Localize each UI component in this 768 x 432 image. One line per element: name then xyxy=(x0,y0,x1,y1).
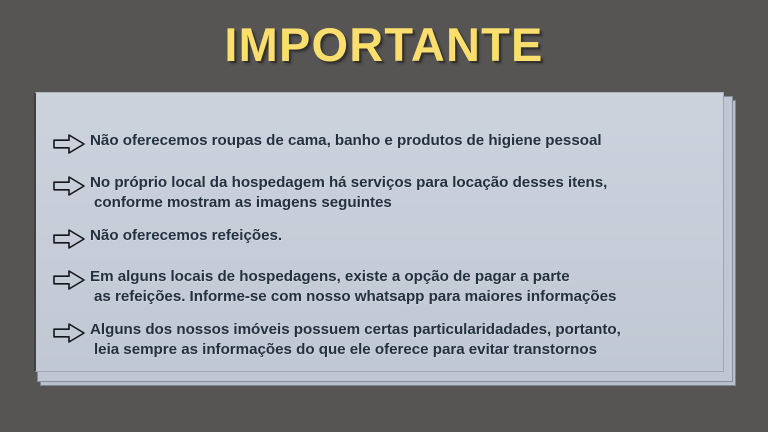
block-arrow-right-icon xyxy=(52,132,86,156)
list-item-text: Alguns dos nossos imóveis possuem certas… xyxy=(90,320,621,360)
slide-canvas: IMPORTANTE Não oferecemos roupas de cama… xyxy=(0,0,768,432)
list-item-line1: Alguns dos nossos imóveis possuem certas… xyxy=(90,321,621,338)
list-item-text: No próprio local da hospedagem há serviç… xyxy=(90,173,607,213)
bullet-list: Não oferecemos roupas de cama, banho e p… xyxy=(52,131,713,360)
content-panel: Não oferecemos roupas de cama, banho e p… xyxy=(34,92,724,372)
list-item: No próprio local da hospedagem há serviç… xyxy=(52,173,713,213)
block-arrow-right-icon xyxy=(52,321,86,345)
block-arrow-right-icon xyxy=(52,174,86,198)
list-item-text: Não oferecemos refeições. xyxy=(90,226,282,246)
list-item-line2: as refeições. Informe-se com nosso whats… xyxy=(94,287,616,307)
list-item-line1: No próprio local da hospedagem há serviç… xyxy=(90,174,607,191)
list-item: Não oferecemos roupas de cama, banho e p… xyxy=(52,131,713,156)
list-item-text: Não oferecemos roupas de cama, banho e p… xyxy=(90,131,602,151)
list-item: Alguns dos nossos imóveis possuem certas… xyxy=(52,320,713,360)
block-arrow-right-icon xyxy=(52,268,86,292)
page-title: IMPORTANTE xyxy=(0,20,768,69)
list-item-text: Em alguns locais de hospedagens, existe … xyxy=(90,267,616,307)
list-item-line1: Não oferecemos refeições. xyxy=(90,227,282,244)
list-item-line1: Não oferecemos roupas de cama, banho e p… xyxy=(90,132,602,149)
list-item: Em alguns locais de hospedagens, existe … xyxy=(52,267,713,307)
list-item-line2: conforme mostram as imagens seguintes xyxy=(94,193,607,213)
list-item-line1: Em alguns locais de hospedagens, existe … xyxy=(90,268,570,285)
list-item: Não oferecemos refeições. xyxy=(52,226,713,251)
content-panel-stack: Não oferecemos roupas de cama, banho e p… xyxy=(34,92,734,384)
list-item-line2: leia sempre as informações do que ele of… xyxy=(94,340,621,360)
block-arrow-right-icon xyxy=(52,227,86,251)
